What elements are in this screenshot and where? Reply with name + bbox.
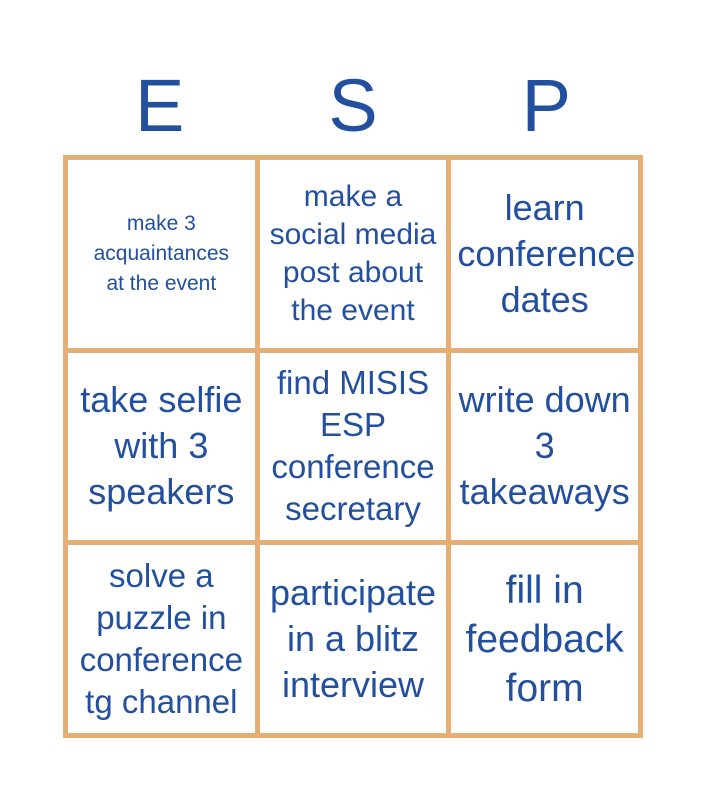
bingo-cell-r3c3[interactable]: fill in feedback form: [451, 545, 638, 733]
bingo-cell-text: take selfie with 3 speakers: [74, 377, 249, 515]
bingo-card: E S P make 3 acquaintances at the event …: [0, 0, 707, 800]
bingo-cell-text: write down 3 takeaways: [457, 377, 632, 515]
bingo-cell-r2c1[interactable]: take selfie with 3 speakers: [68, 353, 255, 541]
bingo-cell-text: find MISIS ESP conference secretary: [266, 362, 441, 530]
bingo-cell-r3c1[interactable]: solve a puzzle in conference tg channel: [68, 545, 255, 733]
bingo-cell-r2c3[interactable]: write down 3 takeaways: [451, 353, 638, 541]
bingo-cell-r3c2[interactable]: participate in a blitz interview: [260, 545, 447, 733]
bingo-cell-r1c2[interactable]: make a social media post about the event: [260, 160, 447, 348]
header-letter-label: S: [328, 69, 377, 143]
bingo-grid: make 3 acquaintances at the event make a…: [63, 155, 643, 738]
bingo-cell-text: fill in feedback form: [457, 566, 632, 713]
bingo-cell-text: make a social media post about the event: [266, 178, 441, 330]
bingo-cell-r1c1[interactable]: make 3 acquaintances at the event: [68, 160, 255, 348]
bingo-cell-r2c2[interactable]: find MISIS ESP conference secretary: [260, 353, 447, 541]
bingo-cell-text: learn conference dates: [457, 185, 632, 323]
header-letter-label: E: [135, 69, 184, 143]
header-letter-3: P: [450, 58, 643, 153]
header-letter-label: P: [522, 69, 571, 143]
bingo-cell-r1c3[interactable]: learn conference dates: [451, 160, 638, 348]
bingo-cell-text: make 3 acquaintances at the event: [74, 209, 249, 299]
bingo-header: E S P: [63, 58, 643, 153]
header-letter-1: E: [63, 58, 256, 153]
bingo-cell-text: participate in a blitz interview: [266, 570, 441, 708]
header-letter-2: S: [256, 58, 449, 153]
bingo-cell-text: solve a puzzle in conference tg channel: [74, 555, 249, 723]
